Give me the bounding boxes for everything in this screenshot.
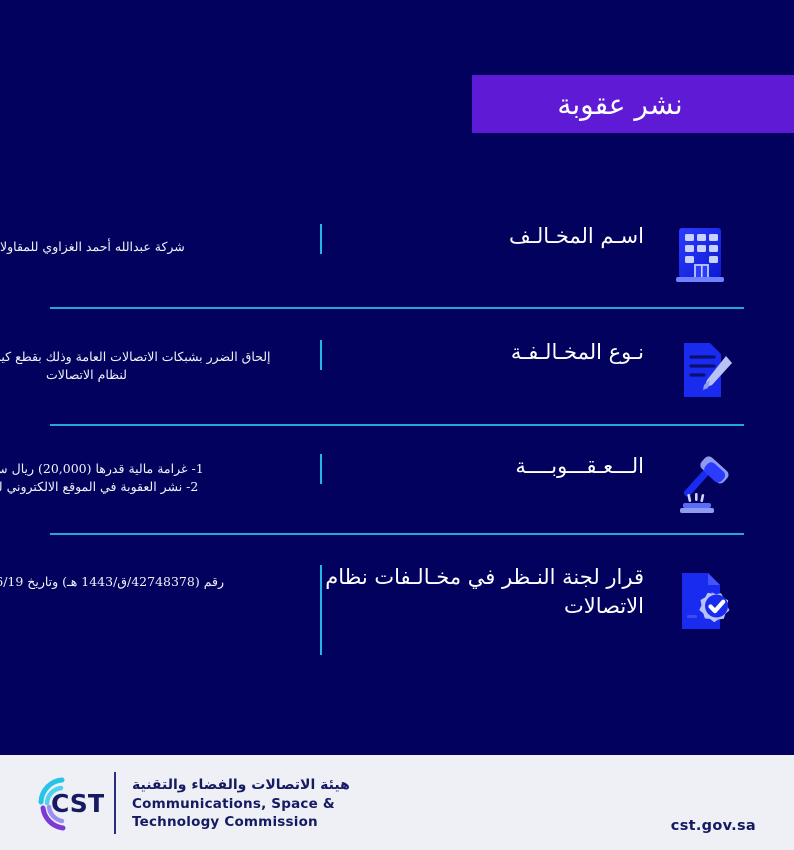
org-name-arabic: هيئة الاتصالات والفضاء والتقنية: [132, 775, 350, 795]
row-divider: [50, 307, 744, 309]
label-accent-bar: [320, 340, 322, 370]
website-url[interactable]: cst.gov.sa: [671, 818, 756, 834]
logo-divider: [114, 772, 116, 834]
row-value: شركة عبدالله أحمد الغزاوي للمقاولات: [0, 238, 314, 256]
organization-names: هيئة الاتصالات والفضاء والتقنية Communic…: [132, 775, 350, 831]
detail-row-committee-decision: قرار لجنة النـظر في مخـالـفات نظام الاتص…: [0, 563, 794, 659]
row-label: الـــعـقـــوبــــة: [320, 452, 650, 481]
row-divider: [50, 533, 744, 535]
detail-row-penalty: الـــعـقـــوبــــة 1- غرامة مالية قدرها …: [0, 452, 794, 516]
org-name-english-line2: Technology Commission: [132, 813, 350, 831]
row-label: نـوع المخـالـفـة: [320, 338, 650, 367]
page-title: نشر عقوبة: [557, 88, 682, 121]
label-accent-bar: [320, 454, 322, 484]
cst-logo-icon: CST: [32, 771, 104, 835]
row-value: إلحاق الضرر بشبكات الاتصالات العامة وذلك…: [0, 348, 314, 384]
row-label: قرار لجنة النـظر في مخـالـفات نظام الاتص…: [320, 563, 650, 621]
label-accent-bar: [320, 224, 322, 254]
document-approved-icon: [670, 569, 734, 633]
row-value: 1- غرامة مالية قدرها (20,000) ريال سعودي…: [0, 460, 314, 496]
title-banner: نشر عقوبة: [472, 75, 794, 133]
building-icon: [670, 222, 734, 286]
document-pen-icon: [670, 338, 734, 402]
row-divider: [50, 424, 744, 426]
gavel-icon: [670, 452, 734, 516]
cst-logo-text: CST: [51, 789, 104, 818]
detail-row-violator-name: اسـم المخـالـف شركة عبدالله أحمد الغزاوي…: [0, 222, 794, 286]
row-value: رقم (42748378/ق/1443 هـ) وتاريخ 1443/6/1…: [0, 573, 314, 591]
footer: CST هيئة الاتصالات والفضاء والتقنية Comm…: [0, 755, 794, 850]
org-name-english-line1: Communications, Space &: [132, 795, 350, 813]
label-accent-bar: [320, 565, 322, 655]
detail-row-violation-type: نـوع المخـالـفـة إلحاق الضرر بشبكات الات…: [0, 338, 794, 402]
footer-branding: CST هيئة الاتصالات والفضاء والتقنية Comm…: [32, 771, 350, 835]
penalty-publication-poster: نشر عقوبة: [0, 0, 794, 850]
row-label: اسـم المخـالـف: [320, 222, 650, 251]
